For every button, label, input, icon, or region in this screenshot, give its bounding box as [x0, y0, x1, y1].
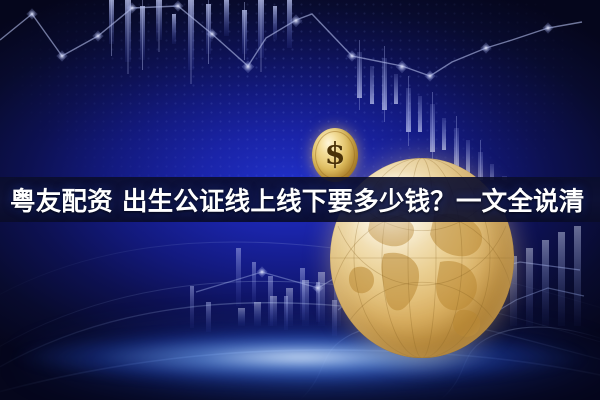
gold-dollar-coin: $ [312, 128, 358, 182]
candlestick-cluster-left [109, 0, 292, 84]
headline-text: 粤友配资 出生公证线上线下要多少钱？一文全说清 [0, 177, 600, 222]
promo-banner-image: $ 粤友配资 出生公证线上线下要多少钱？一文全说清 [0, 0, 600, 400]
dollar-sign-icon: $ [325, 140, 346, 170]
